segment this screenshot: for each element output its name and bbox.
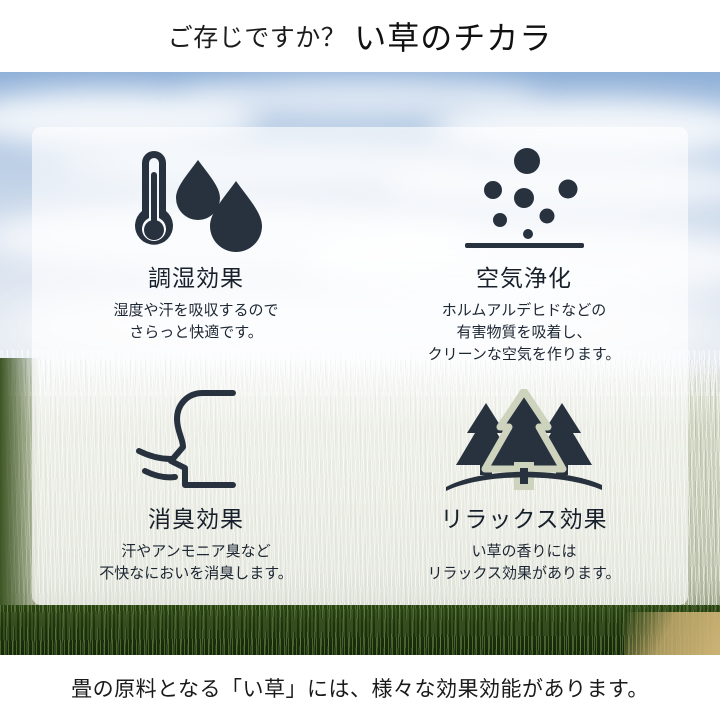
air-particles-icon [449, 145, 599, 255]
feature-desc-line: 不快なにおいを消臭します。 [99, 563, 293, 585]
feature-title: 消臭効果 [148, 500, 244, 534]
feature-desc-line: リラックス効果があります。 [427, 563, 620, 585]
feature-desc-line: い草の香りには [427, 541, 620, 563]
feature-humidity: 調湿効果 湿度や汗を吸収するので さらっと快適です。 [32, 127, 360, 366]
feature-title: 調湿効果 [148, 259, 244, 293]
feature-title: リラックス効果 [440, 500, 607, 534]
feature-desc-line: 湿度や汗を吸収するので [113, 300, 278, 322]
pine-trees-icon [444, 386, 604, 496]
feature-title: 空気浄化 [476, 259, 572, 293]
feature-grid: 調湿効果 湿度や汗を吸収するので さらっと快適です。 [32, 127, 688, 605]
feature-deodorize: 消臭効果 汗やアンモニア臭など 不快なにおいを消臭します。 [32, 366, 360, 605]
feature-desc-line: 汗やアンモニア臭など [99, 541, 293, 563]
page-footer: 畳の原料となる「い草」には、様々な効果効能があります。 [0, 655, 720, 720]
grass-layer [0, 605, 720, 655]
feature-air-purification: 空気浄化 ホルムアルデヒドなどの 有害物質を吸着し、 クリーンな空気を作ります。 [360, 127, 688, 366]
feature-relax: リラックス効果 い草の香りには リラックス効果があります。 [360, 366, 688, 605]
feature-description: 汗やアンモニア臭など 不快なにおいを消臭します。 [99, 541, 293, 585]
feature-desc-line: 有害物質を吸着し、 [428, 322, 621, 344]
page-header: ご存じですか？ い草のチカラ [0, 0, 720, 72]
feature-desc-line: クリーンな空気を作ります。 [428, 344, 621, 366]
feature-description: 湿度や汗を吸収するので さらっと快適です。 [113, 300, 278, 344]
header-lead-text: ご存じですか？ [168, 18, 347, 54]
infographic-page: ご存じですか？ い草のチカラ [0, 0, 720, 720]
thermometer-droplets-icon [121, 145, 271, 255]
face-profile-breath-icon [121, 386, 271, 496]
background-photo: 調湿効果 湿度や汗を吸収するので さらっと快適です。 [0, 72, 720, 655]
sand-patch [625, 612, 720, 655]
feature-desc-line: ホルムアルデヒドなどの [428, 300, 621, 322]
feature-desc-line: さらっと快適です。 [113, 322, 278, 344]
footer-text: 畳の原料となる「い草」には、様々な効果効能があります。 [71, 673, 649, 703]
feature-description: い草の香りには リラックス効果があります。 [427, 541, 620, 585]
page-title: い草のチカラ [354, 13, 552, 59]
feature-description: ホルムアルデヒドなどの 有害物質を吸着し、 クリーンな空気を作ります。 [428, 300, 621, 365]
